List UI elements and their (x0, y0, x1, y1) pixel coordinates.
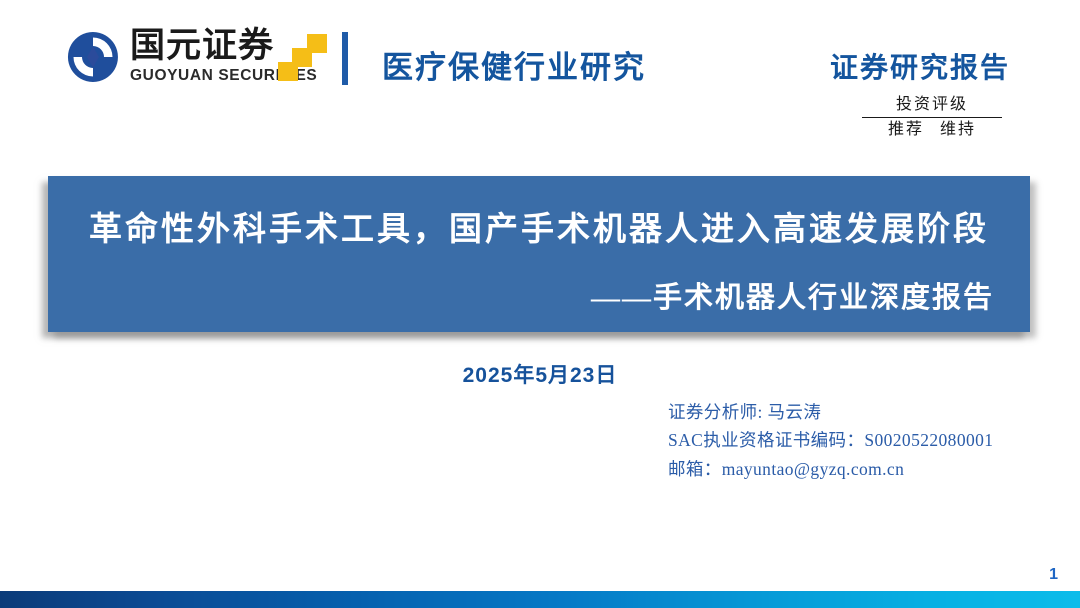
report-date: 2025年5月23日 (0, 359, 1080, 389)
analyst-sac-line: SAC执业资格证书编码：S0020522080001 (668, 426, 993, 454)
header-vertical-divider (342, 32, 348, 85)
gold-squares-decoration-icon (278, 32, 336, 84)
report-kind-label: 证券研究报告 (830, 46, 1010, 86)
guoyuan-circular-logo-icon (66, 30, 120, 84)
analyst-email-line: 邮箱：mayuntao@gyzq.com.cn (668, 455, 993, 483)
report-cover-slide: 国元证券 GUOYUAN SECURITIES 医疗保健行业研究 证券研究报告 … (0, 0, 1080, 608)
analyst-info-block: 证券分析师: 马云涛 SAC执业资格证书编码：S0020522080001 邮箱… (668, 398, 993, 483)
investment-rating-divider (862, 117, 1002, 118)
analyst-name-line: 证券分析师: 马云涛 (668, 398, 993, 426)
report-main-title: 革命性外科手术工具，国产手术机器人进入高速发展阶段 (48, 202, 1030, 250)
gold-square-3 (307, 34, 327, 53)
investment-rating-values: 推荐 维持 (862, 119, 1002, 141)
rating-recommendation: 推荐 (888, 119, 924, 141)
industry-research-title: 医疗保健行业研究 (382, 42, 646, 87)
page-number: 1 (1049, 566, 1058, 584)
title-banner-wrapper: 革命性外科手术工具，国产手术机器人进入高速发展阶段 ——手术机器人行业深度报告 (48, 176, 1030, 332)
rating-status: 维持 (940, 119, 976, 141)
footer-gradient-bar (0, 591, 1080, 608)
investment-rating-box: 投资评级 推荐 维持 (862, 94, 1002, 141)
investment-rating-label: 投资评级 (862, 94, 1002, 116)
report-subtitle: ——手术机器人行业深度报告 (591, 274, 994, 316)
